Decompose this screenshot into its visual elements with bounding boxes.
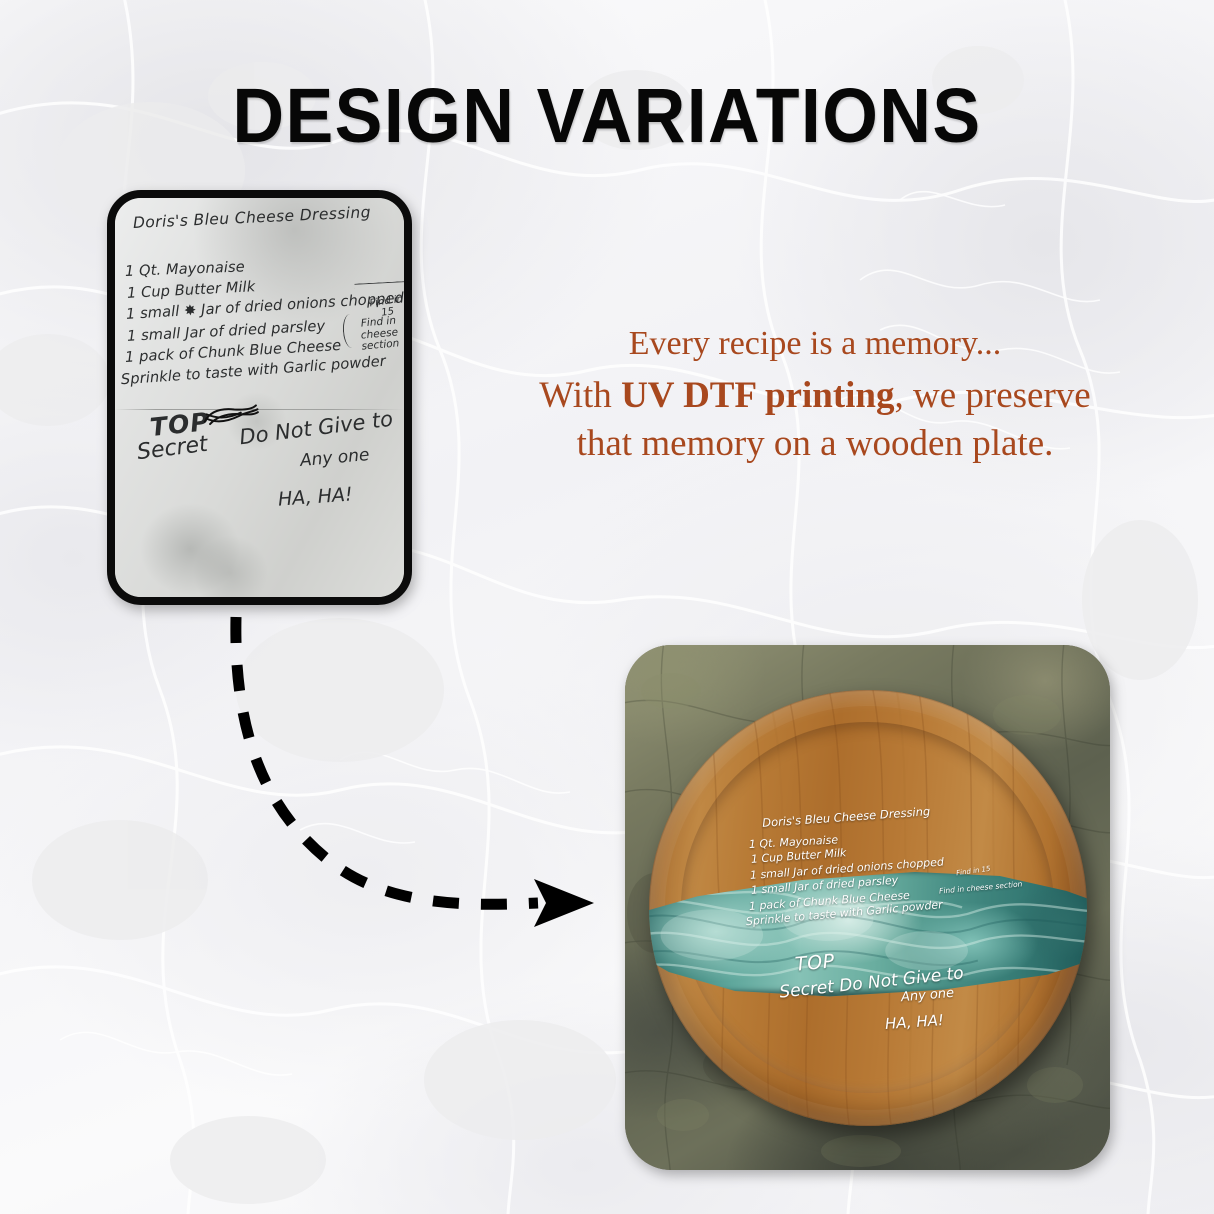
original-recipe-card[interactable]: Doris's Bleu Cheese Dressing 1 Qt. Mayon… — [107, 190, 412, 605]
recipe-footer-donot: Do Not Give to — [238, 407, 394, 450]
page-title: DESIGN VARIATIONS — [42, 78, 1171, 155]
tagline-block: Every recipe is a memory... With UV DTF … — [470, 322, 1160, 468]
tagline-line-2-bold: UV DTF printing — [621, 375, 894, 416]
tagline-line-2-suffix: , we preserve — [895, 375, 1091, 416]
tagline-line-2: With UV DTF printing, we preserve — [470, 372, 1160, 420]
tagline-line-3: that memory on a wooden plate. — [470, 420, 1160, 468]
poster-canvas: DESIGN VARIATIONS Every recipe is a memo… — [0, 0, 1214, 1214]
printed-plate-photo[interactable]: Doris's Bleu Cheese Dressing 1 Qt. Mayon… — [625, 645, 1110, 1170]
recipe-note-cheese-section: Find in cheese section — [354, 315, 406, 354]
recipe-title: Doris's Bleu Cheese Dressing — [133, 203, 372, 232]
recipe-footer-anyone: Any one — [299, 445, 370, 471]
tagline-line-1: Every recipe is a memory... — [470, 322, 1160, 366]
wooden-plate: Doris's Bleu Cheese Dressing 1 Qt. Mayon… — [649, 690, 1087, 1126]
recipe-footer-haha: HA, HA! — [277, 483, 353, 510]
recipe-footer-secret: Secret — [136, 432, 209, 465]
tagline-line-2-prefix: With — [539, 375, 621, 416]
dashed-flow-arrow-icon — [190, 595, 610, 935]
recipe-handwriting: Doris's Bleu Cheese Dressing 1 Qt. Mayon… — [115, 198, 404, 597]
